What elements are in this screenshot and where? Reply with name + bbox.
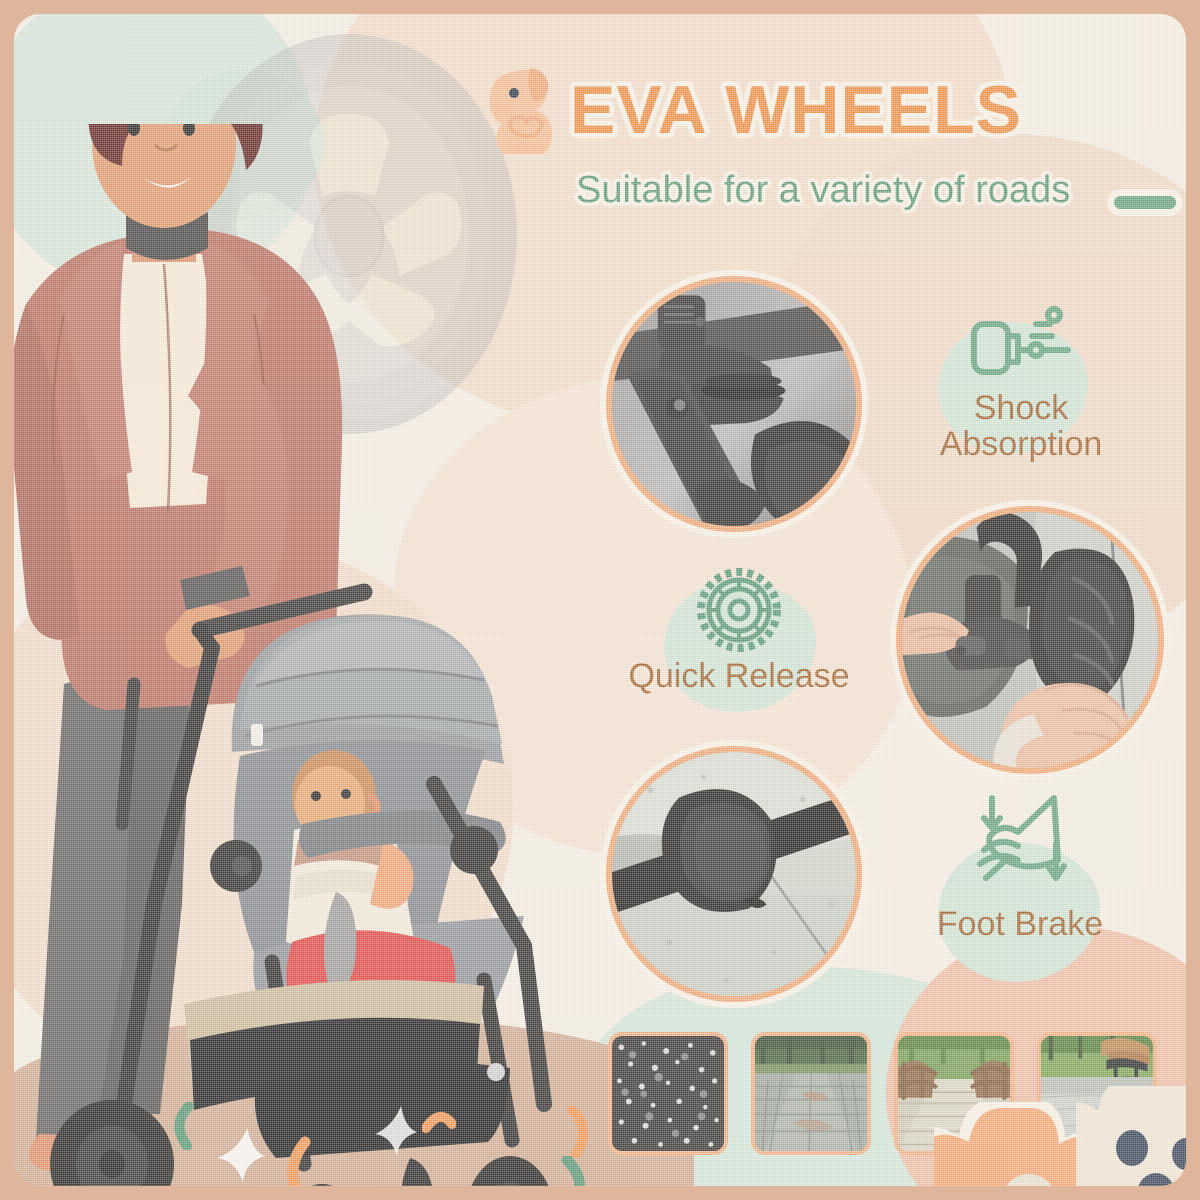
tire-wheel-icon: [695, 566, 783, 654]
poster-canvas: EVA WHEELS Suitable for a variety of roa…: [14, 14, 1186, 1186]
product-feature-poster: EVA WHEELS Suitable for a variety of roa…: [0, 0, 1200, 1200]
arc-doodle-green-icon: [169, 1102, 195, 1150]
accent-dash: [1114, 196, 1176, 209]
arc-doodle-green-2-icon: [559, 1156, 589, 1186]
arc-doodle-orange-2-icon: [564, 1106, 594, 1158]
arc-doodle-orange-icon: [279, 1136, 313, 1186]
photo-quick-release: [896, 506, 1164, 774]
feature-quick-release: Quick Release: [574, 566, 904, 694]
feature-label: Foot Brake: [870, 906, 1170, 942]
feature-shock-absorption: Shock Absorption: [876, 306, 1166, 462]
feature-label: Shock Absorption: [876, 390, 1166, 462]
road-thumbnail-brick: [751, 1032, 871, 1155]
star-doodle-icon: [210, 1126, 284, 1186]
feature-foot-brake: Foot Brake: [870, 792, 1170, 942]
page-title: EVA WHEELS: [570, 76, 1022, 144]
dot-doodle-icon: [486, 1062, 506, 1082]
duck-icon: [484, 66, 556, 154]
flower-cream-icon: [1076, 1086, 1186, 1186]
dash-doodle-icon: [422, 1110, 456, 1134]
photo-shock-absorption: [606, 276, 862, 532]
mother-and-stroller-illustration: [14, 124, 624, 1186]
feature-label: Quick Release: [574, 658, 904, 694]
poster-header: EVA WHEELS Suitable for a variety of roa…: [484, 66, 1184, 212]
road-thumbnail-gravel: [608, 1032, 728, 1155]
shock-absorber-icon: [966, 306, 1076, 386]
foot-brake-icon: [960, 792, 1080, 902]
photo-foot-brake: [606, 746, 862, 1002]
page-subtitle: Suitable for a variety of roads: [576, 170, 1184, 212]
